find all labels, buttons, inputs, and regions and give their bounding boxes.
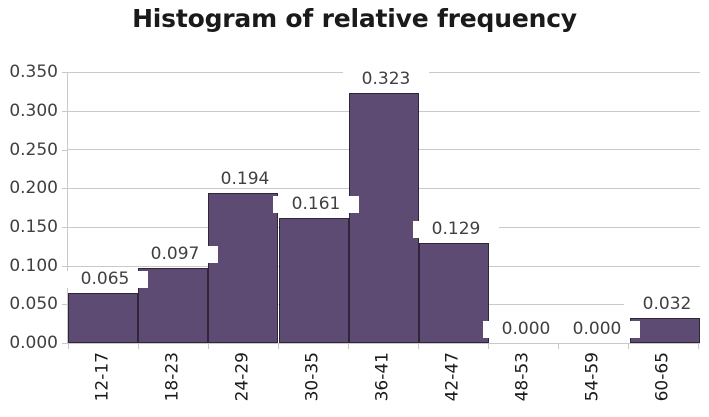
x-axis-tick-mark xyxy=(278,343,279,349)
plot-area xyxy=(68,72,700,343)
x-axis-tick-label: 42-47 xyxy=(445,352,462,401)
x-axis-category-6: 48-53 xyxy=(501,352,545,414)
x-axis-tick-label: 48-53 xyxy=(515,352,532,401)
bar-value-label: 0.161 xyxy=(273,196,359,213)
bar-value-label: 0.194 xyxy=(202,171,288,188)
y-axis-tick-label: 0.150 xyxy=(0,219,58,236)
bar[interactable] xyxy=(138,268,208,343)
y-axis-tick-label: 0.250 xyxy=(0,142,58,159)
x-axis-tick-mark xyxy=(698,343,699,349)
bar-value-label: 0.097 xyxy=(132,246,218,263)
bar[interactable] xyxy=(630,318,700,343)
x-axis-category-3: 30-35 xyxy=(291,352,335,414)
x-axis-tick-mark xyxy=(628,343,629,349)
y-axis-tick-label: 0.100 xyxy=(0,258,58,275)
y-axis-tick-label: 0.000 xyxy=(0,335,58,352)
bar[interactable] xyxy=(68,293,138,343)
x-axis-tick-label: 24-29 xyxy=(235,352,252,401)
y-axis-tick-label: 0.300 xyxy=(0,103,58,120)
x-axis-tick-label: 54-59 xyxy=(585,352,602,401)
histogram-chart: Histogram of relative frequency 0.350 0.… xyxy=(0,0,709,417)
x-axis-category-7: 54-59 xyxy=(571,352,615,414)
y-axis-tick-label: 0.050 xyxy=(0,296,58,313)
x-axis-tick-label: 18-23 xyxy=(165,352,182,401)
bar-value-label: 0.065 xyxy=(62,271,148,288)
x-axis-category-4: 36-41 xyxy=(361,352,405,414)
bar-value-label: 0.000 xyxy=(554,321,640,338)
x-axis-tick-label: 12-17 xyxy=(95,352,112,401)
x-axis-tick-mark xyxy=(348,343,349,349)
bar-value-label: 0.323 xyxy=(343,71,429,88)
x-axis-tick-mark xyxy=(208,343,209,349)
x-axis-tick-mark xyxy=(68,343,69,349)
bar[interactable] xyxy=(419,243,489,343)
x-axis-category-8: 60-65 xyxy=(641,352,685,414)
x-axis-tick-label: 60-65 xyxy=(655,352,672,401)
y-axis-tick-label: 0.200 xyxy=(0,180,58,197)
bar[interactable] xyxy=(279,218,349,343)
x-axis-tick-label: 30-35 xyxy=(305,352,322,401)
x-axis-line xyxy=(62,343,700,344)
bar[interactable] xyxy=(208,193,278,343)
x-axis-tick-mark xyxy=(488,343,489,349)
y-axis-tick-label: 0.350 xyxy=(0,64,58,81)
y-axis-labels: 0.350 0.300 0.250 0.200 0.150 0.100 0.05… xyxy=(0,0,58,417)
x-axis-category-2: 24-29 xyxy=(221,352,265,414)
x-axis-tick-mark xyxy=(558,343,559,349)
x-axis-category-1: 18-23 xyxy=(151,352,195,414)
bar[interactable] xyxy=(349,93,419,343)
x-axis-category-0: 12-17 xyxy=(81,352,125,414)
x-axis-tick-mark xyxy=(418,343,419,349)
x-axis-tick-mark xyxy=(138,343,139,349)
x-axis-category-5: 42-47 xyxy=(431,352,475,414)
bar-value-label: 0.032 xyxy=(624,296,709,313)
chart-title: Histogram of relative frequency xyxy=(0,4,709,33)
x-axis-tick-label: 36-41 xyxy=(375,352,392,401)
bar-value-label: 0.129 xyxy=(413,221,499,238)
